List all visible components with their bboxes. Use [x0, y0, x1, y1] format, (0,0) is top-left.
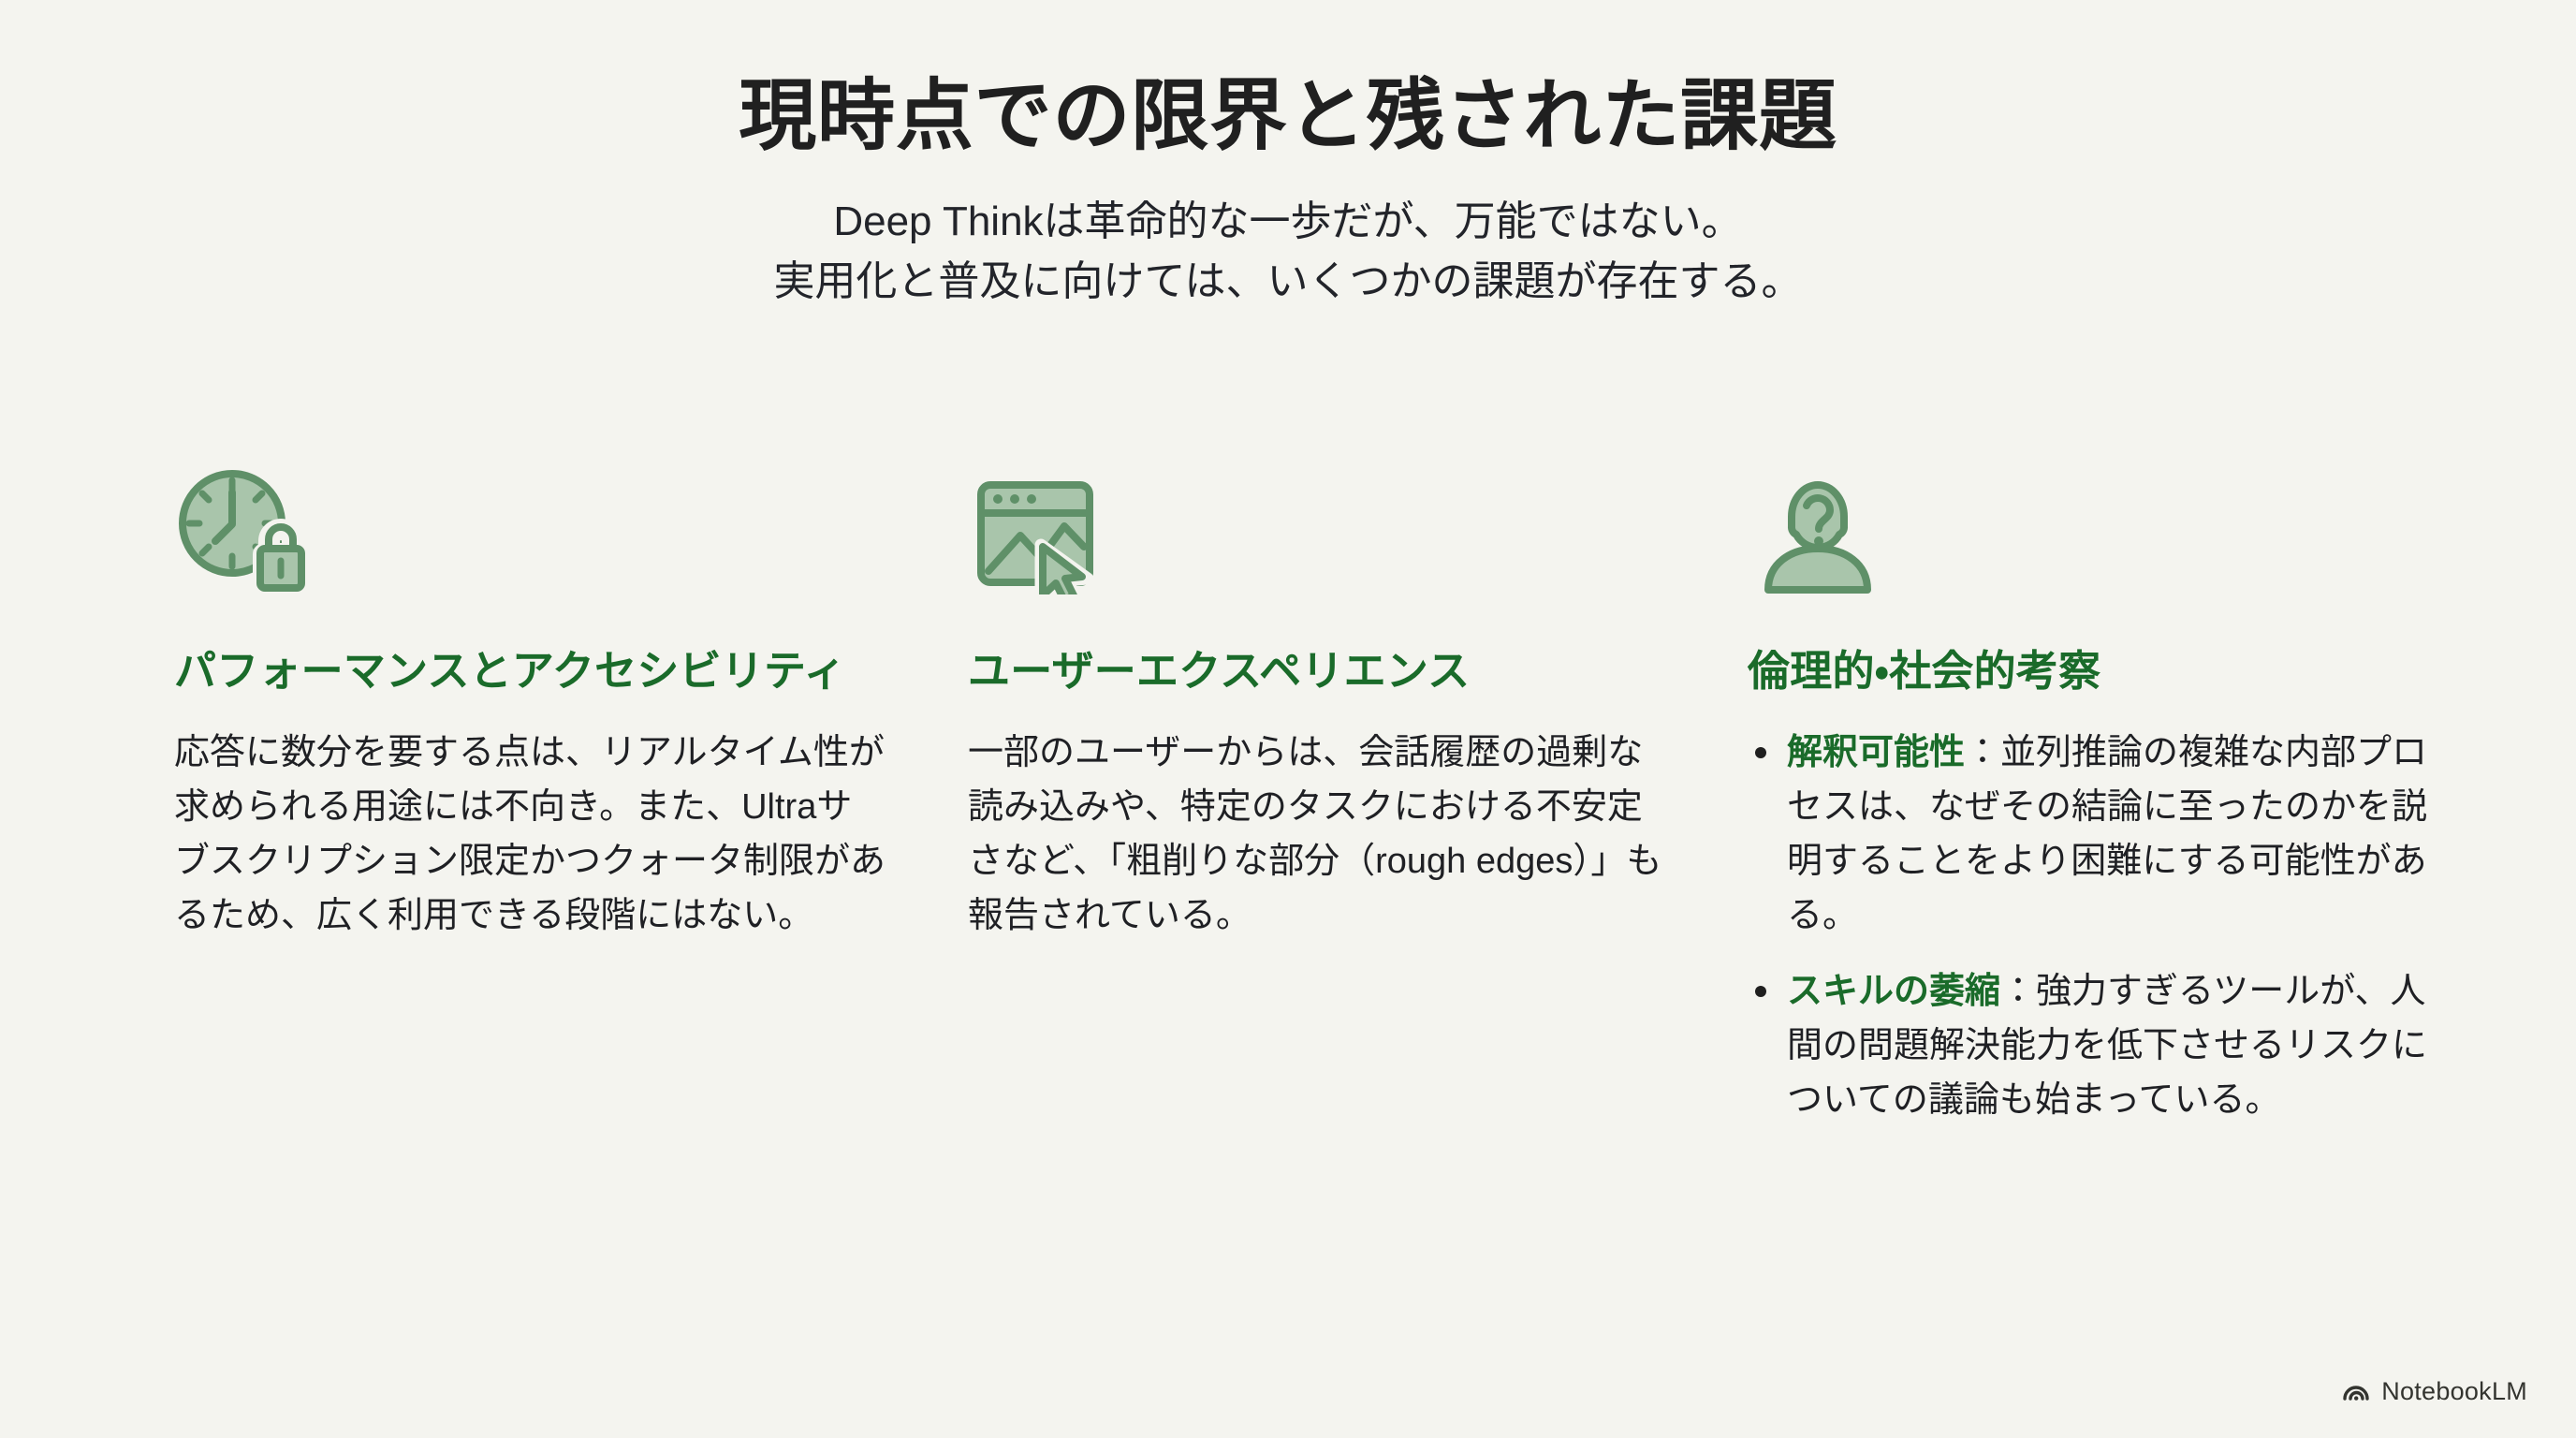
column-heading: ユーザーエクスペリエンス — [968, 643, 1665, 698]
notebooklm-logo-text: NotebookLM — [2381, 1377, 2527, 1406]
column-body-text: 一部のユーザーからは、会話履歴の過剰な読み込みや、特定のタスクにおける不安定さな… — [968, 726, 1665, 943]
notebooklm-arc-icon — [2342, 1377, 2370, 1406]
column-body-text: 応答に数分を要する点は、リアルタイム性が求められる用途には不向き。また、Ultr… — [174, 726, 885, 943]
bullet-list: 解釈可能性：並列推論の複雑な内部プロセスは、なぜその結論に至ったのかを説明するこ… — [1748, 726, 2459, 1127]
page-title: 現時点での限界と残された課題 — [0, 73, 2576, 160]
bullet-dot-icon — [1755, 986, 1766, 997]
slide-root: 現時点での限界と残された課題 Deep Thinkは革命的な一歩だが、万能ではな… — [0, 0, 2576, 1438]
column-ethical-social: 倫理的・社会的考察 解釈可能性：並列推論の複雑な内部プロセスは、なぜその結論に至… — [1748, 468, 2459, 1128]
bullet-term: スキルの萎縮 — [1787, 972, 2000, 1011]
slide-header: 現時点での限界と残された課題 Deep Thinkは革命的な一歩だが、万能ではな… — [0, 0, 2576, 312]
bullet-separator: ： — [1965, 733, 2000, 772]
column-heading: 倫理的・社会的考察 — [1748, 643, 2459, 698]
browser-image-cursor-icon — [968, 468, 1665, 594]
person-question-icon — [1748, 468, 2459, 594]
bullet-term: 解釈可能性 — [1787, 733, 1965, 772]
notebooklm-logo: NotebookLM — [2342, 1377, 2527, 1406]
column-heading: パフォーマンスとアクセシビリティ — [174, 643, 885, 698]
clock-lock-icon — [174, 468, 885, 594]
subtitle-line-1: Deep Thinkは革命的な一歩だが、万能ではない。 — [492, 192, 2084, 252]
list-item: スキルの萎縮：強力すぎるツールが、人間の問題解決能力を低下させるリスクについての… — [1748, 965, 2459, 1127]
slide-subtitle: Deep Thinkは革命的な一歩だが、万能ではない。 実用化と普及に向けては、… — [492, 192, 2084, 312]
list-item: 解釈可能性：並列推論の複雑な内部プロセスは、なぜその結論に至ったのかを説明するこ… — [1748, 726, 2459, 943]
bullet-dot-icon — [1755, 747, 1766, 758]
bullet-separator: ： — [2000, 972, 2036, 1011]
column-performance-accessibility: パフォーマンスとアクセシビリティ 応答に数分を要する点は、リアルタイム性が求めら… — [174, 468, 885, 943]
subtitle-line-2: 実用化と普及に向けては、いくつかの課題が存在する。 — [492, 252, 2084, 312]
column-user-experience: ユーザーエクスペリエンス 一部のユーザーからは、会話履歴の過剰な読み込みや、特定… — [968, 468, 1665, 943]
content-columns: パフォーマンスとアクセシビリティ 応答に数分を要する点は、リアルタイム性が求めら… — [0, 468, 2576, 1128]
